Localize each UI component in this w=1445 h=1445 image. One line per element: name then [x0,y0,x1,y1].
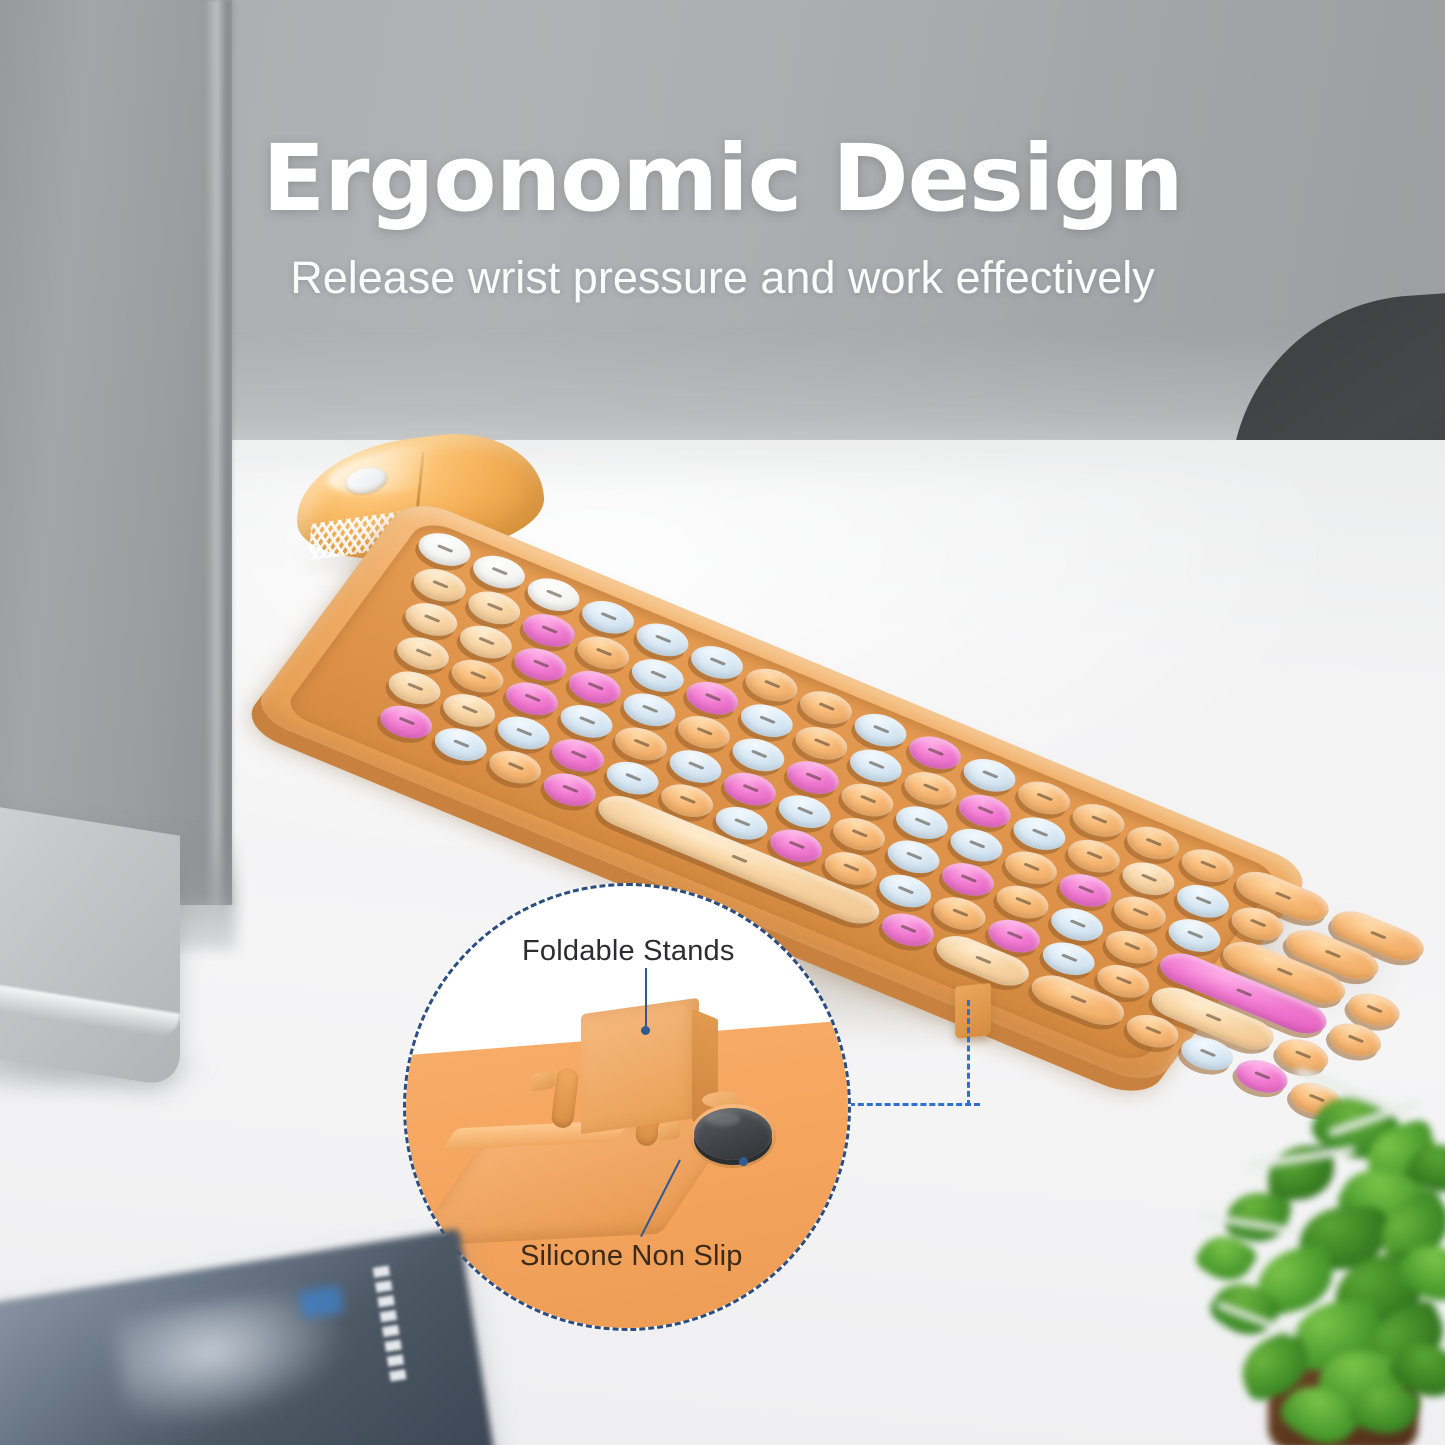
callout-connector-horizontal [840,1103,980,1106]
page-title: Ergonomic Design [0,125,1445,232]
callout-label-foldable-stands: Foldable Stands [522,935,735,968]
callout-label-silicone-non-slip: Silicone Non Slip [520,1240,743,1273]
callout-connector-vertical [967,1000,970,1106]
silicone-foot-highlight [706,1112,740,1126]
leader-dot-silicone [739,1157,748,1166]
leader-line-foldable-stands [645,968,647,1030]
laptop-base [0,788,180,1088]
foldable-stand-flap [581,998,699,1135]
product-marketing-image: Ergonomic Design Release wrist pressure … [0,0,1445,1445]
foldable-stand-right [955,983,991,1039]
leader-dot-foldable-stands [641,1026,650,1035]
page-subtitle: Release wrist pressure and work effectiv… [0,252,1445,304]
potted-plant [1196,1088,1445,1398]
